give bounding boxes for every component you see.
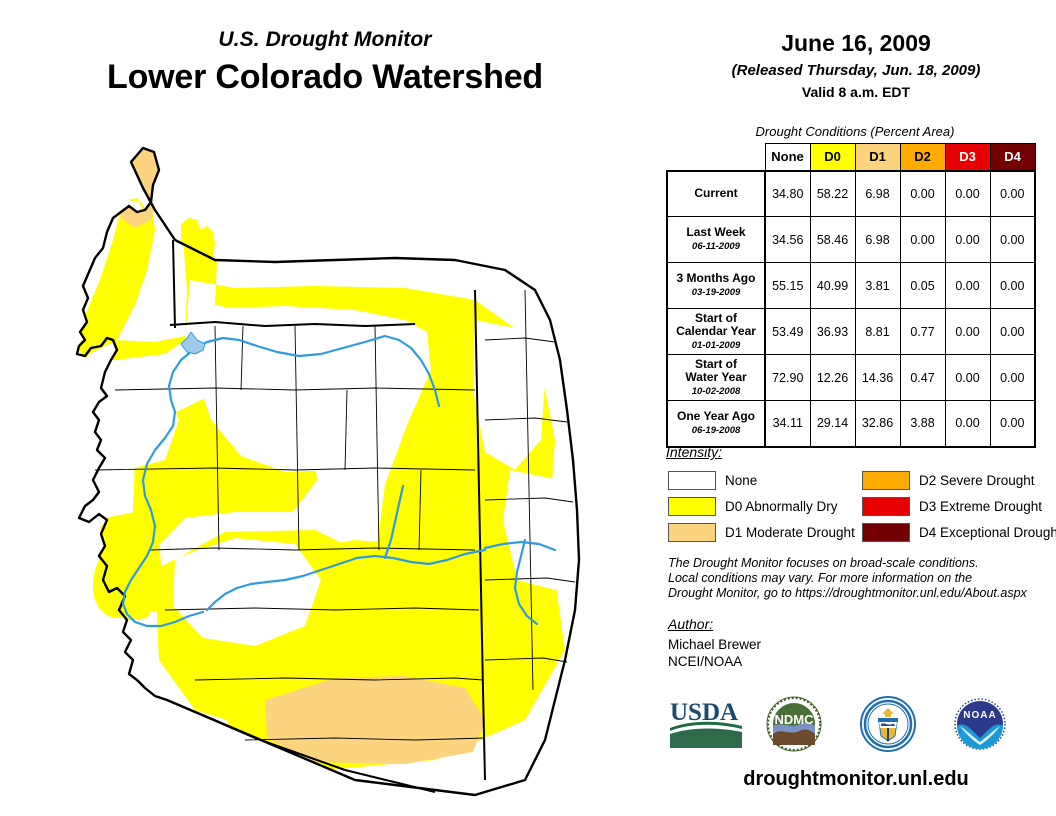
table-row: Start ofCalendar Year01-01-200953.4936.9… [667,309,1035,355]
cell-d4: 0.00 [990,309,1035,355]
cell-none: 53.49 [765,309,810,355]
valid-time: Valid 8 a.m. EDT [660,84,1052,100]
legend-swatch [862,523,910,542]
author-affiliation: NCEI/NOAA [668,653,761,670]
row-date: 06-19-2008 [669,424,763,437]
legend-column-right: D2 Severe DroughtD3 Extreme DroughtD4 Ex… [862,467,1056,545]
cell-d1: 3.81 [855,263,900,309]
legend-title: Intensity: [666,444,722,460]
disclaimer-line: The Drought Monitor focuses on broad-sca… [668,556,1048,571]
table-corner-cell [667,144,765,171]
legend-item: D3 Extreme Drought [862,493,1056,519]
cell-none: 34.56 [765,217,810,263]
report-header: June 16, 2009 (Released Thursday, Jun. 1… [660,30,1052,100]
legend-column-left: NoneD0 Abnormally DryD1 Moderate Drought [668,467,855,545]
cell-d2: 3.88 [900,401,945,447]
column-header-d4: D4 [990,144,1035,171]
page-title: Lower Colorado Watershed [0,58,650,97]
cell-d0: 40.99 [810,263,855,309]
map-title-block: U.S. Drought Monitor Lower Colorado Wate… [0,28,650,97]
svg-text:NDMC: NDMC [775,712,815,727]
cell-d0: 58.22 [810,171,855,217]
row-label: Start ofCalendar Year01-01-2009 [667,309,765,355]
cell-d1: 6.98 [855,171,900,217]
cell-d3: 0.00 [945,309,990,355]
cell-d1: 8.81 [855,309,900,355]
disclaimer-text: The Drought Monitor focuses on broad-sca… [668,556,1048,601]
table-row: Current34.8058.226.980.000.000.00 [667,171,1035,217]
product-subtitle: U.S. Drought Monitor [0,28,650,52]
logo-strip: USDA NDMC [660,694,1052,756]
column-header-d2: D2 [900,144,945,171]
author-name: Michael Brewer [668,636,761,653]
ndmc-logo: NDMC [766,696,822,757]
usda-logo: USDA [668,698,744,755]
column-header-d1: D1 [855,144,900,171]
legend-swatch [668,471,716,490]
legend-swatch [668,497,716,516]
row-label: Current [667,171,765,217]
report-date: June 16, 2009 [660,30,1052,57]
cell-d0: 29.14 [810,401,855,447]
cell-d1: 14.36 [855,355,900,401]
svg-text:NOAA: NOAA [963,710,996,721]
legend-item: None [668,467,855,493]
cell-d3: 0.00 [945,355,990,401]
drought-map [55,140,635,812]
cell-none: 34.80 [765,171,810,217]
cell-d1: 6.98 [855,217,900,263]
legend-item: D2 Severe Drought [862,467,1056,493]
disclaimer-line: Drought Monitor, go to https://droughtmo… [668,586,1048,601]
release-date: (Released Thursday, Jun. 18, 2009) [660,62,1052,79]
drought-conditions-table: None D0 D1 D2 D3 D4 Current34.8058.226.9… [666,143,1036,448]
legend-item: D1 Moderate Drought [668,519,855,545]
legend-label: D4 Exceptional Drought [919,525,1056,540]
website-url[interactable]: droughtmonitor.unl.edu [660,768,1052,791]
cell-none: 55.15 [765,263,810,309]
cell-d4: 0.00 [990,263,1035,309]
row-label: Start ofWater Year10-02-2008 [667,355,765,401]
column-header-d3: D3 [945,144,990,171]
table-caption: Drought Conditions (Percent Area) [660,124,1050,139]
column-header-d0: D0 [810,144,855,171]
legend-item: D4 Exceptional Drought [862,519,1056,545]
cell-none: 34.11 [765,401,810,447]
row-date: 10-02-2008 [669,385,763,398]
cell-d2: 0.47 [900,355,945,401]
row-label: One Year Ago06-19-2008 [667,401,765,447]
noaa-logo: NOAA [952,696,1008,757]
disclaimer-line: Local conditions may vary. For more info… [668,571,1048,586]
cell-d0: 12.26 [810,355,855,401]
cell-d2: 0.05 [900,263,945,309]
cell-d3: 0.00 [945,401,990,447]
legend-label: D3 Extreme Drought [919,499,1042,514]
table-body: Current34.8058.226.980.000.000.00Last We… [667,171,1035,447]
table-row: Start ofWater Year10-02-200872.9012.2614… [667,355,1035,401]
author-block: Michael Brewer NCEI/NOAA [668,636,761,670]
cell-d2: 0.77 [900,309,945,355]
cell-d0: 36.93 [810,309,855,355]
legend-label: None [725,473,757,488]
table-row: Last Week06-11-200934.5658.466.980.000.0… [667,217,1035,263]
row-date: 03-19-2009 [669,286,763,299]
cell-d4: 0.00 [990,171,1035,217]
row-date: 06-11-2009 [669,240,763,253]
legend-label: D1 Moderate Drought [725,525,855,540]
author-label: Author: [668,616,713,632]
row-date: 01-01-2009 [669,339,763,352]
cell-d3: 0.00 [945,263,990,309]
row-label: 3 Months Ago03-19-2009 [667,263,765,309]
legend-item: D0 Abnormally Dry [668,493,855,519]
cell-d0: 58.46 [810,217,855,263]
legend-swatch [862,471,910,490]
legend-swatch [862,497,910,516]
table-header-row: None D0 D1 D2 D3 D4 [667,144,1035,171]
cell-d3: 0.00 [945,217,990,263]
legend-label: D0 Abnormally Dry [725,499,838,514]
cell-d1: 32.86 [855,401,900,447]
cell-d4: 0.00 [990,217,1035,263]
table-row: 3 Months Ago03-19-200955.1540.993.810.05… [667,263,1035,309]
legend-swatch [668,523,716,542]
cell-none: 72.90 [765,355,810,401]
map-svg [55,140,635,812]
row-label: Last Week06-11-2009 [667,217,765,263]
cell-d2: 0.00 [900,217,945,263]
cell-d4: 0.00 [990,355,1035,401]
cell-d4: 0.00 [990,401,1035,447]
table-row: One Year Ago06-19-200834.1129.1432.863.8… [667,401,1035,447]
column-header-none: None [765,144,810,171]
cell-d2: 0.00 [900,171,945,217]
cell-d3: 0.00 [945,171,990,217]
usdc-seal-logo [860,696,916,757]
legend-label: D2 Severe Drought [919,473,1035,488]
